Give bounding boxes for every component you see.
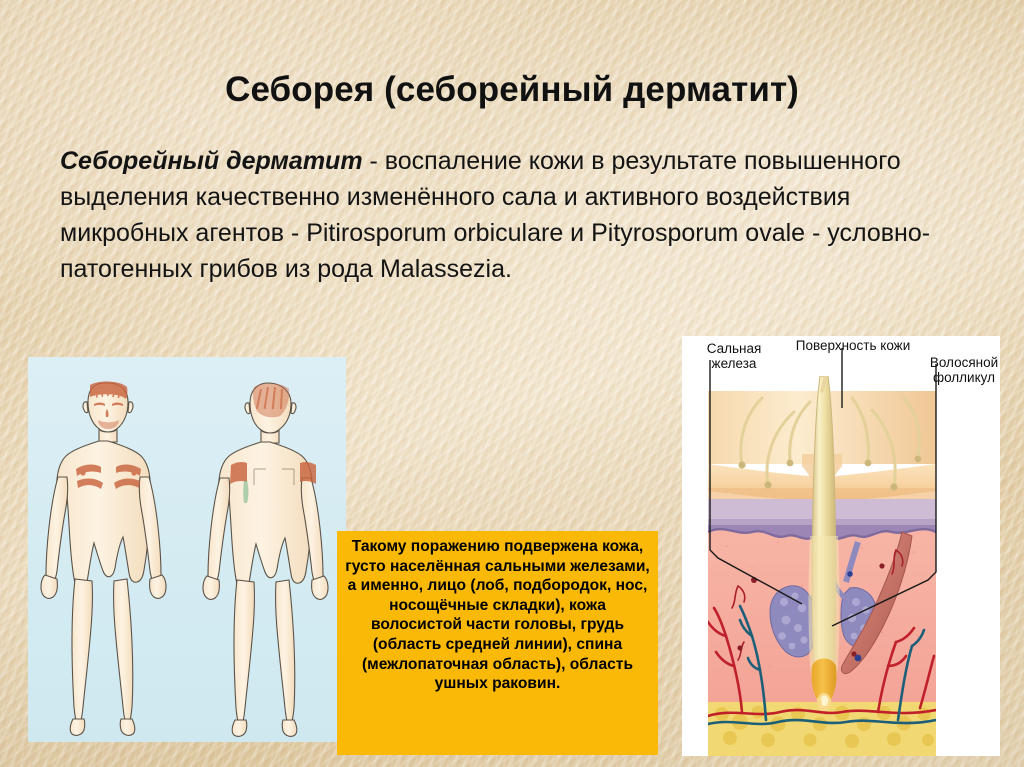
page-title: Себорея (себорейный дерматит): [0, 70, 1024, 110]
callout-box: Такому поражению подвержена кожа, густо …: [337, 531, 658, 755]
dermal-cell-blue: [855, 655, 862, 662]
label-sebaceous-gland-line2: железа: [686, 356, 782, 371]
skin-block: [708, 336, 936, 756]
label-hair-follicle-line2: фолликул: [914, 370, 1014, 385]
body-figures-svg: [28, 357, 346, 742]
back-body-figure: [203, 383, 328, 736]
intro-paragraph: Себорейный дерматит - воспаление кожи в …: [60, 143, 940, 287]
dermal-cell-blue-2: [847, 571, 853, 577]
label-skin-surface: Поверхность кожи: [778, 338, 928, 353]
label-sebaceous-gland: Сальная железа: [686, 341, 782, 371]
label-hair-follicle-line1: Волосяной: [914, 355, 1014, 370]
skin-cross-section-image: [682, 336, 1000, 756]
intro-term: Себорейный дерматит: [60, 147, 363, 175]
body-figures-image: [28, 357, 346, 742]
front-body-figure: [41, 383, 166, 735]
label-sebaceous-gland-line1: Сальная: [686, 341, 782, 356]
skin-diagram-svg: [682, 336, 1000, 756]
slide-root: Себорея (себорейный дерматит) Себорейный…: [0, 0, 1024, 767]
label-hair-follicle: Волосяной фолликул: [914, 355, 1014, 385]
